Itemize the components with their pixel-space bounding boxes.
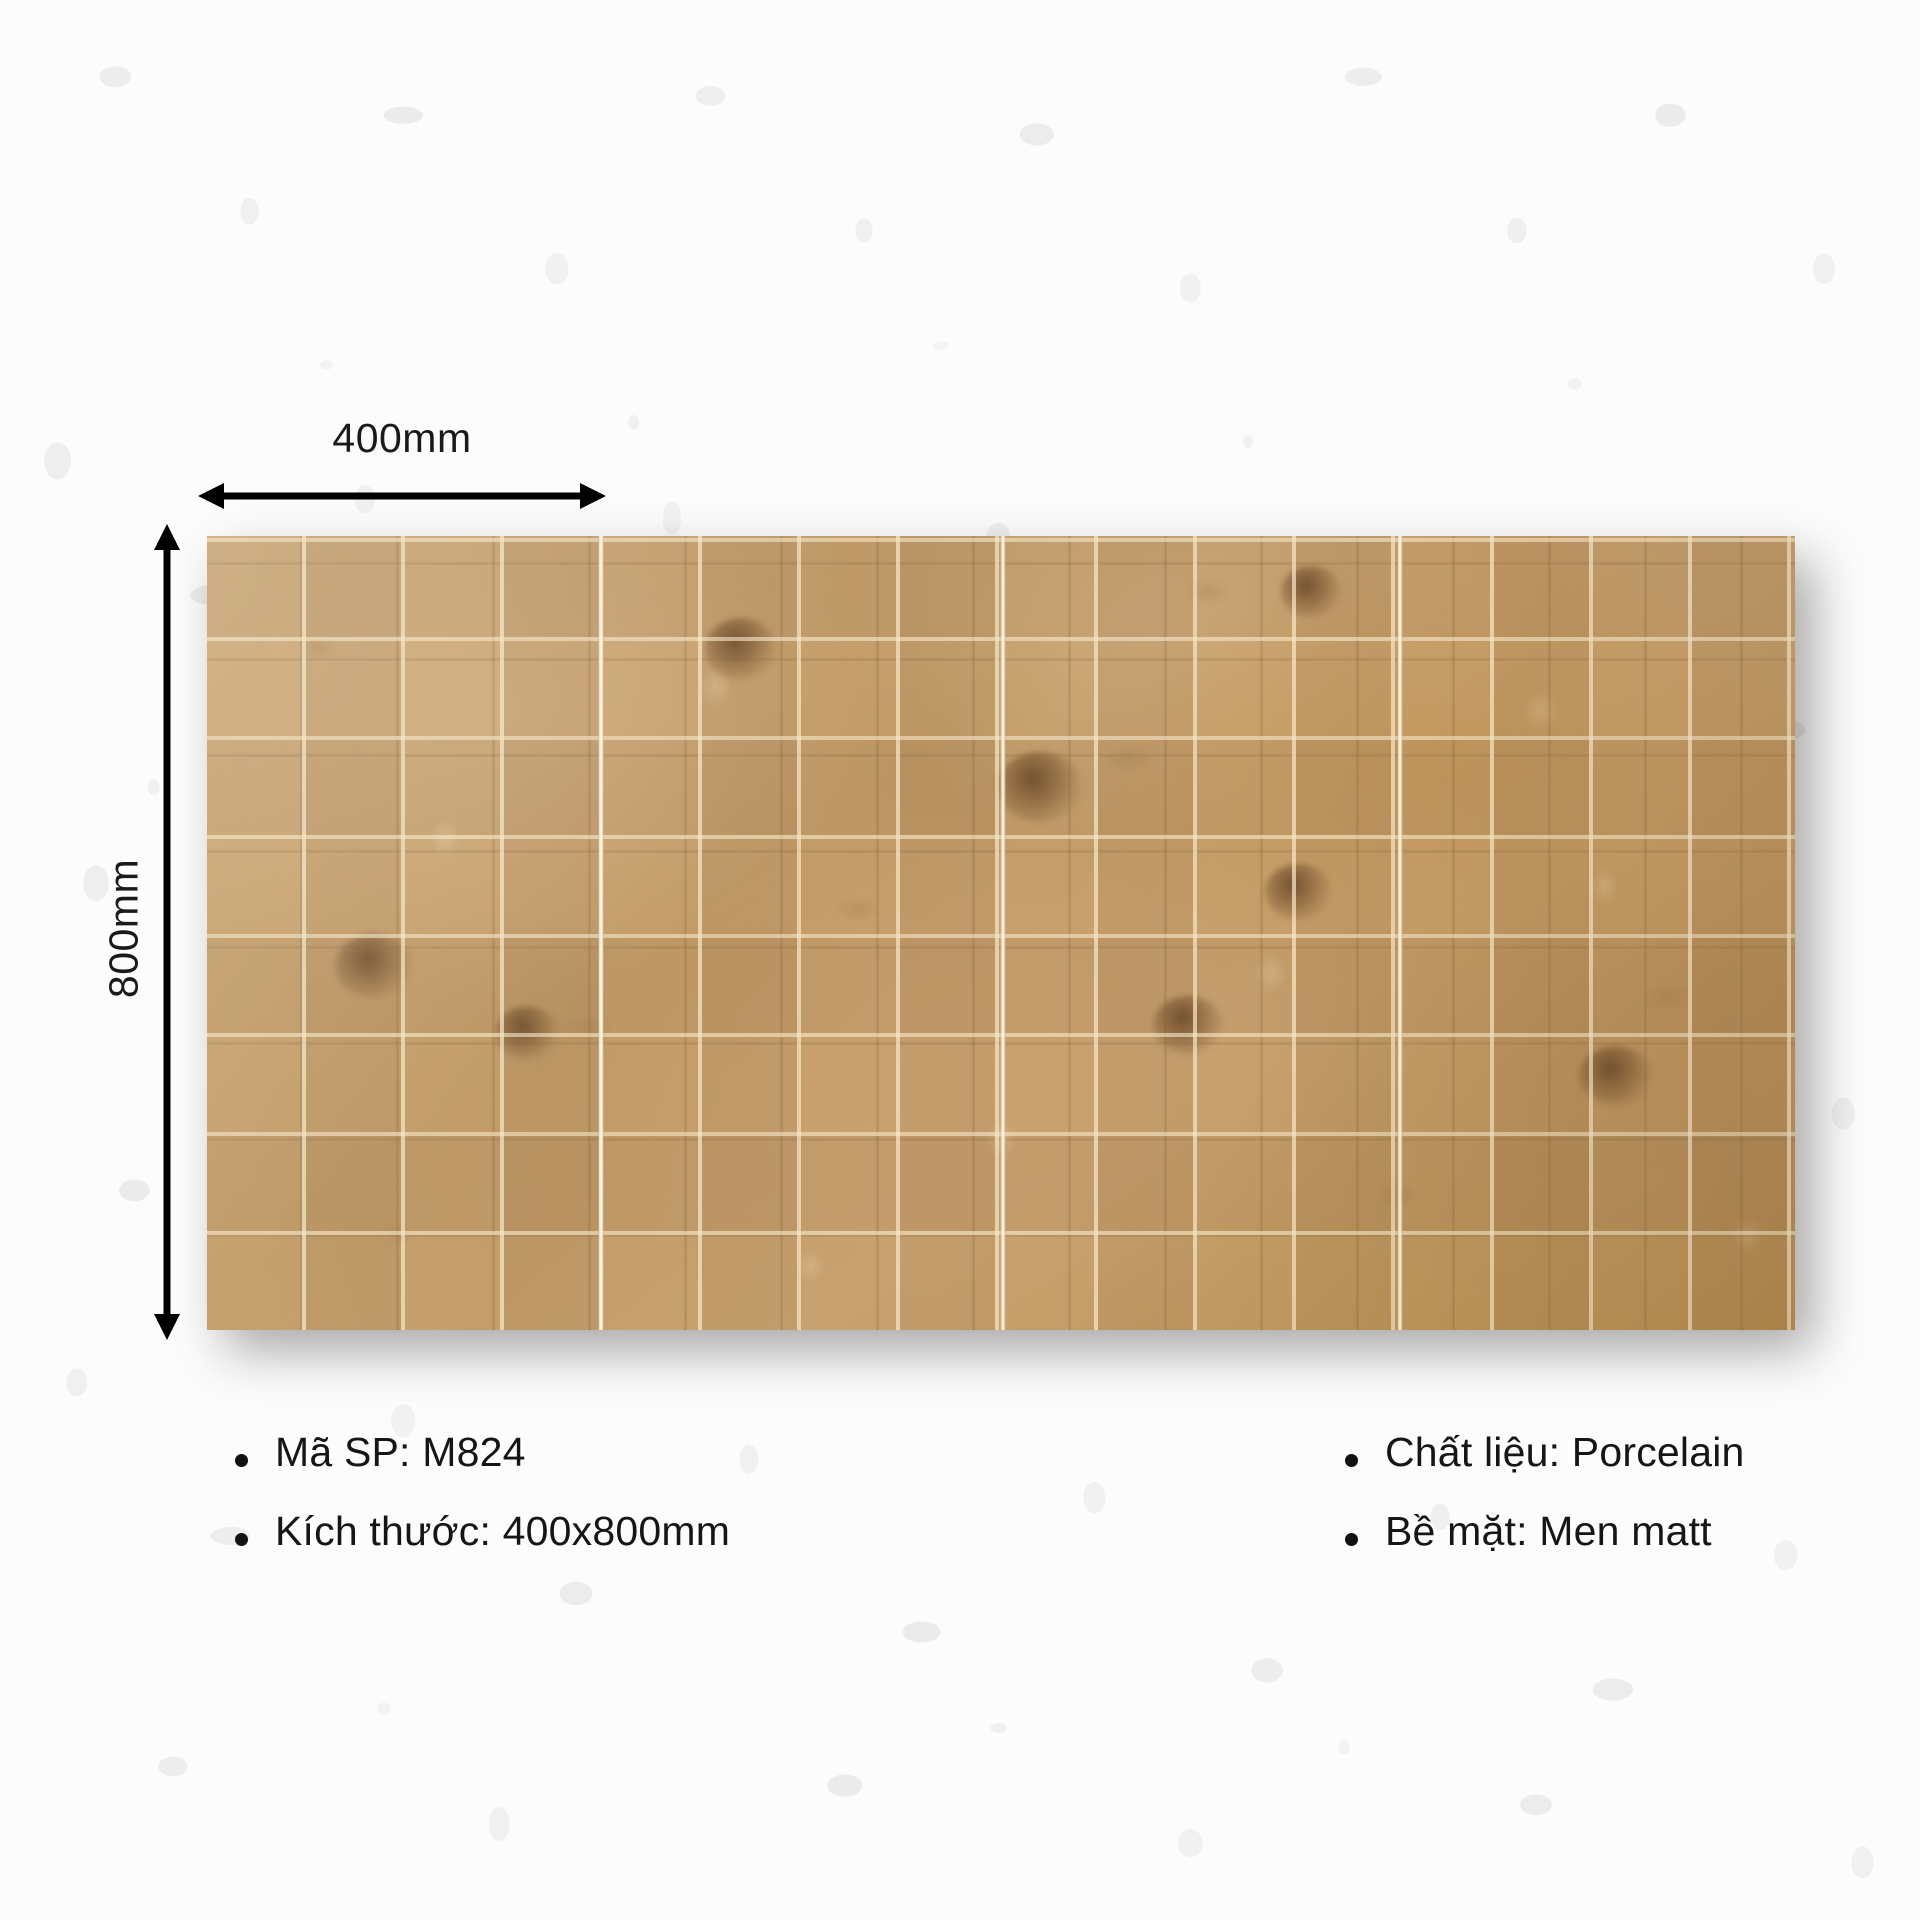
tile-slab-seam bbox=[1000, 536, 1006, 1330]
tile-product-card: 400mm 800mm Mã SP bbox=[0, 0, 1920, 1920]
bullet-icon bbox=[235, 1533, 248, 1546]
spec-list-left: Mã SP: M824 Kích thước: 400x800mm bbox=[235, 1432, 730, 1590]
height-dimension-label: 800mm bbox=[101, 529, 148, 1329]
spec-item-size: Kích thước: 400x800mm bbox=[235, 1511, 730, 1552]
width-dimension-label: 400mm bbox=[208, 415, 596, 462]
spec-text-product-code: Mã SP: M824 bbox=[275, 1432, 526, 1473]
tile-slab-seam bbox=[1397, 536, 1403, 1330]
bullet-icon bbox=[235, 1454, 248, 1467]
spec-text-size: Kích thước: 400x800mm bbox=[275, 1511, 730, 1552]
spec-item-material: Chất liệu: Porcelain bbox=[1345, 1432, 1745, 1473]
tile-slab-seam bbox=[598, 536, 604, 1330]
spec-text-surface: Bề mặt: Men matt bbox=[1385, 1511, 1712, 1552]
width-dimension-arrow-icon bbox=[196, 474, 608, 518]
spec-text-material: Chất liệu: Porcelain bbox=[1385, 1432, 1745, 1473]
height-dimension-arrow-icon bbox=[145, 522, 189, 1342]
spec-list-right: Chất liệu: Porcelain Bề mặt: Men matt bbox=[1345, 1432, 1745, 1590]
spec-item-product-code: Mã SP: M824 bbox=[235, 1432, 730, 1473]
spec-item-surface: Bề mặt: Men matt bbox=[1345, 1511, 1745, 1552]
bullet-icon bbox=[1345, 1454, 1358, 1467]
tile-swatch-image bbox=[207, 536, 1795, 1330]
bullet-icon bbox=[1345, 1533, 1358, 1546]
